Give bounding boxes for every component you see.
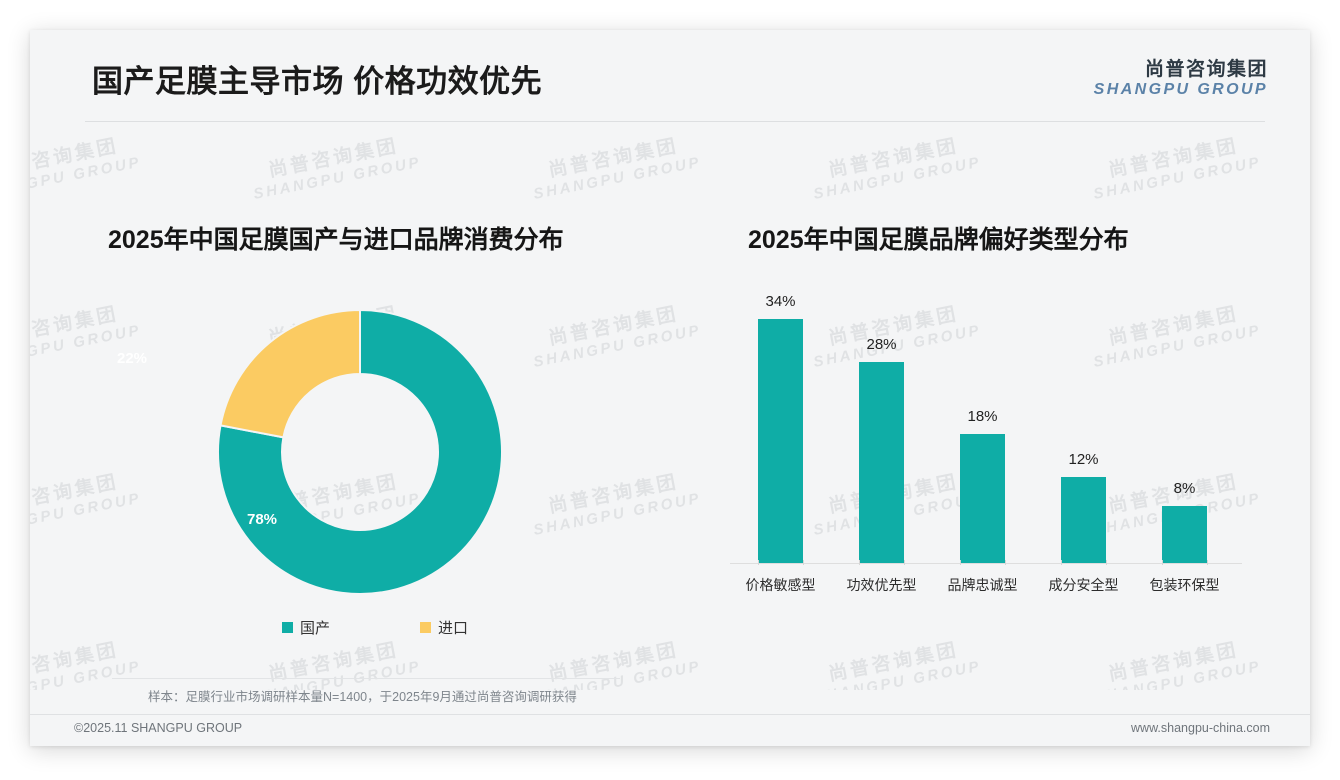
bar-rect[interactable]	[758, 319, 803, 563]
bar-value-label: 18%	[932, 408, 1033, 425]
bar-group: 34%	[730, 290, 831, 563]
axis-tick	[803, 560, 804, 565]
axis-tick	[1005, 560, 1006, 565]
slide-card: 国产足膜主导市场 价格功效优先 尚普咨询集团 SHANGPU GROUP 尚普咨…	[30, 30, 1310, 746]
bar-value-label: 8%	[1134, 480, 1235, 497]
footer-copyright: ©2025.11 SHANGPU GROUP	[74, 721, 242, 735]
bar-value-label: 28%	[831, 336, 932, 353]
bar-category-label: 功效优先型	[831, 575, 932, 595]
footnote-divider	[112, 678, 620, 679]
legend-label-domestic: 国产	[300, 617, 330, 638]
bar-rect[interactable]	[1061, 477, 1106, 563]
brand-logo-cn: 尚普咨询集团	[1094, 60, 1268, 81]
bar-category-label: 包装环保型	[1134, 575, 1235, 595]
axis-tick	[960, 560, 961, 565]
donut-slice-label-domestic: 78%	[247, 511, 277, 528]
legend-item-import[interactable]: 进口	[420, 617, 468, 638]
bar-plot-area: 34%28%18%12%8%	[730, 290, 1242, 563]
bar-category-label: 价格敏感型	[730, 575, 831, 595]
bar-value-label: 34%	[730, 293, 831, 310]
bar-value-label: 12%	[1033, 451, 1134, 468]
bar-group: 8%	[1134, 290, 1235, 563]
axis-tick	[904, 560, 905, 565]
charts-area: 2025年中国足膜国产与进口品牌消费分布 78% 22% 国产 进口 2025年…	[30, 130, 1310, 670]
bar-group: 12%	[1033, 290, 1134, 563]
legend-swatch-import	[420, 622, 431, 633]
donut-slice-进口[interactable]	[221, 310, 360, 437]
legend-item-domestic[interactable]: 国产	[282, 617, 330, 638]
bar-group: 18%	[932, 290, 1033, 563]
bar-chart-title: 2025年中国足膜品牌偏好类型分布	[748, 220, 1129, 256]
bar-rect[interactable]	[1162, 506, 1207, 563]
page-title: 国产足膜主导市场 价格功效优先	[92, 56, 542, 101]
bar-chart: 34%28%18%12%8% 价格敏感型功效优先型品牌忠诚型成分安全型包装环保型	[730, 290, 1242, 580]
donut-svg	[210, 302, 510, 602]
bar-rect[interactable]	[859, 362, 904, 563]
axis-tick	[859, 560, 860, 565]
bar-category-label: 品牌忠诚型	[932, 575, 1033, 595]
axis-tick	[1162, 560, 1163, 565]
bar-category-label: 成分安全型	[1033, 575, 1134, 595]
header-divider	[85, 121, 1265, 122]
axis-tick	[1106, 560, 1107, 565]
donut-chart	[210, 302, 510, 602]
bar-rect[interactable]	[960, 434, 1005, 563]
bar-group: 28%	[831, 290, 932, 563]
axis-tick	[1061, 560, 1062, 565]
legend-swatch-domestic	[282, 622, 293, 633]
slide-header: 国产足膜主导市场 价格功效优先 尚普咨询集团 SHANGPU GROUP	[30, 30, 1310, 120]
brand-logo-en: SHANGPU GROUP	[1094, 81, 1268, 98]
axis-tick	[1207, 560, 1208, 565]
footer-divider	[30, 714, 1310, 715]
bar-axis-line	[730, 563, 1242, 564]
legend-label-import: 进口	[438, 617, 468, 638]
axis-tick	[758, 560, 759, 565]
footnote: 样本：足膜行业市场调研样本量N=1400，于2025年9月通过尚普咨询调研获得	[148, 686, 577, 705]
donut-slice-label-import: 22%	[117, 350, 147, 367]
brand-logo: 尚普咨询集团 SHANGPU GROUP	[1094, 60, 1268, 98]
donut-legend: 国产 进口	[210, 617, 510, 643]
footer-website[interactable]: www.shangpu-china.com	[1131, 721, 1270, 735]
donut-chart-title: 2025年中国足膜国产与进口品牌消费分布	[108, 220, 564, 256]
